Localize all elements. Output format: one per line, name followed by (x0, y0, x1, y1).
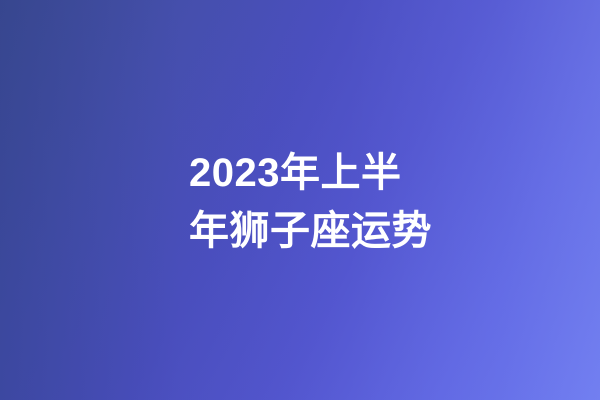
banner-title: 2023年上半 年狮子座运势 (189, 144, 439, 260)
banner-title-line-1: 2023年上半 (189, 144, 439, 202)
banner-canvas: 2023年上半 年狮子座运势 (0, 0, 600, 400)
banner-title-line-2: 年狮子座运势 (189, 202, 439, 260)
